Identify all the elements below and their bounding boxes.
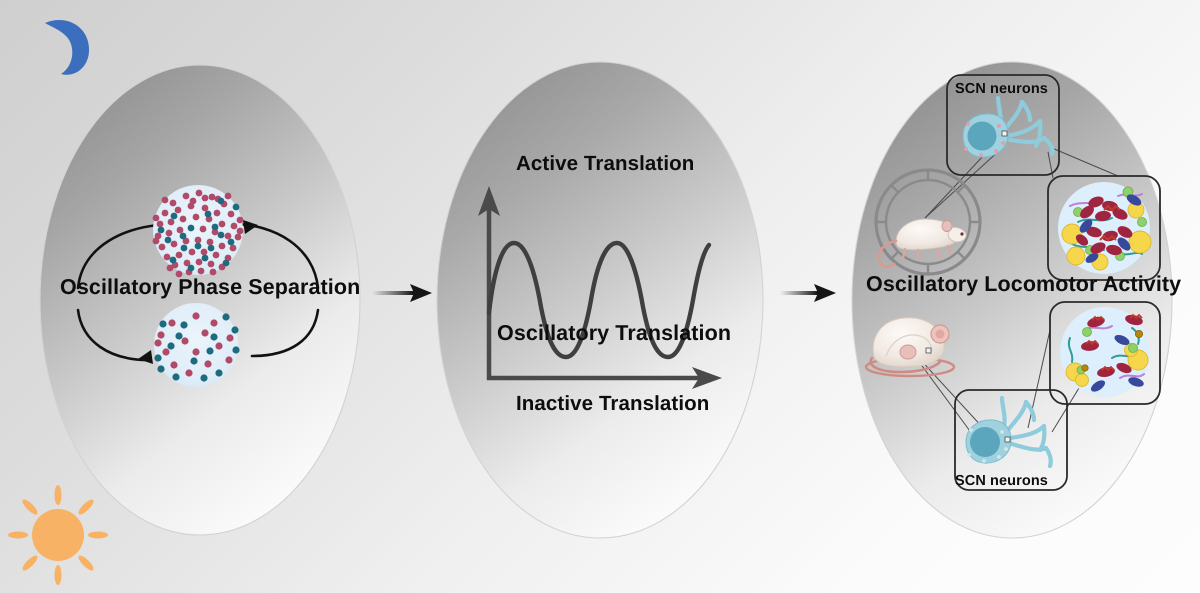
label-oscillatory-translation: Oscillatory Translation [497, 321, 731, 346]
label-inactive-translation: Inactive Translation [516, 392, 709, 416]
panel-translation [437, 62, 763, 538]
panel-1-ellipse [40, 65, 360, 535]
arrow-panel2-to-panel3 [780, 284, 836, 302]
label-scn-neurons-top: SCN neurons [955, 81, 1048, 97]
panel-locomotor [852, 62, 1172, 538]
label-oscillatory-phase-separation: Oscillatory Phase Separation [60, 275, 360, 300]
sun-icon [8, 485, 108, 585]
panel-2-ellipse [437, 62, 763, 538]
moon-icon [45, 20, 89, 75]
label-oscillatory-locomotor-activity: Oscillatory Locomotor Activity [866, 272, 1181, 297]
label-scn-neurons-bottom: SCN neurons [955, 473, 1048, 489]
label-active-translation: Active Translation [516, 152, 694, 176]
scientific-figure-canvas: Oscillatory Phase Separation Active Tran… [0, 0, 1200, 593]
panel-phase-separation [40, 65, 360, 535]
arrow-panel1-to-panel2 [372, 284, 432, 302]
